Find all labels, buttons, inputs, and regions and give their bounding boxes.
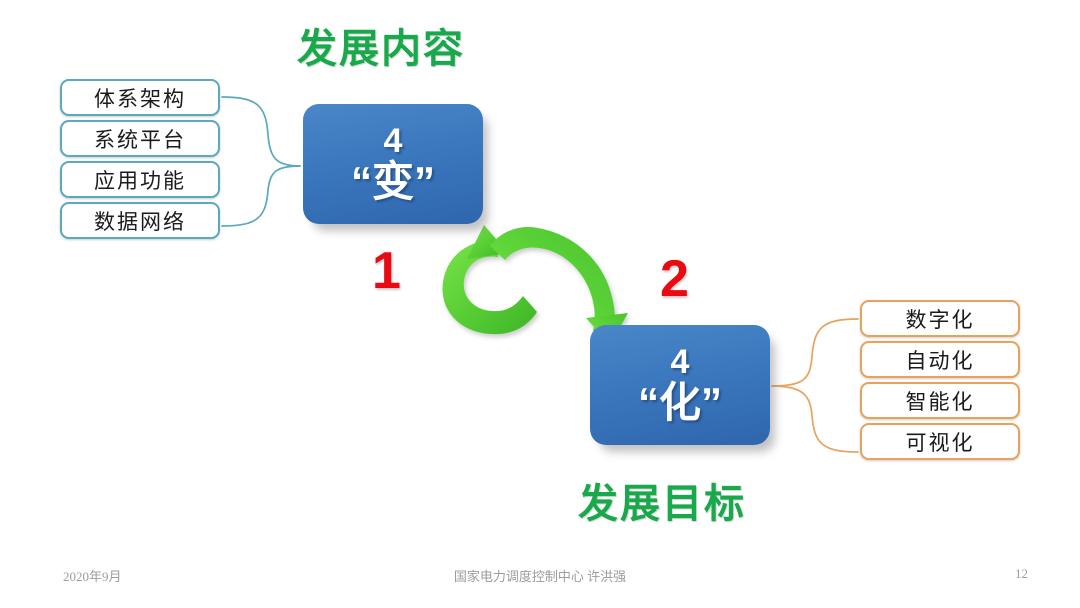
node-number: 4 xyxy=(671,345,690,381)
slide-footer: 2020年9月 国家电力调度控制中心 许洪强 12 xyxy=(0,566,1080,596)
list-item-label: 可视化 xyxy=(906,427,975,457)
list-item-label: 自动化 xyxy=(906,345,975,375)
section-title-development-goal: 发展目标 xyxy=(578,471,746,529)
slide-canvas: 发展内容 体系架构 系统平台 应用功能 数据网络 4 “变” 4 “化” 1 2… xyxy=(0,0,1080,608)
node-word: “变” xyxy=(351,160,435,204)
list-item-label: 系统平台 xyxy=(94,124,186,154)
node-four-changes[interactable]: 4 “变” xyxy=(303,104,483,224)
node-four-izations[interactable]: 4 “化” xyxy=(590,325,770,445)
list-item-label: 智能化 xyxy=(906,386,975,416)
step-number-one: 1 xyxy=(372,241,401,301)
list-item[interactable]: 智能化 xyxy=(860,382,1020,419)
list-item-label: 数字化 xyxy=(906,304,975,334)
footer-attribution: 国家电力调度控制中心 许洪强 xyxy=(0,566,1080,585)
node-word: “化” xyxy=(638,381,722,425)
right-brace-connector-icon xyxy=(772,319,858,452)
section-title-development-content: 发展内容 xyxy=(297,16,465,74)
footer-page-number: 12 xyxy=(1015,566,1028,582)
list-item[interactable]: 数据网络 xyxy=(60,202,220,239)
list-item-label: 数据网络 xyxy=(94,206,186,236)
step-number-two: 2 xyxy=(660,249,689,309)
list-item[interactable]: 可视化 xyxy=(860,423,1020,460)
list-item[interactable]: 体系架构 xyxy=(60,79,220,116)
list-item-label: 应用功能 xyxy=(94,165,186,195)
list-item[interactable]: 自动化 xyxy=(860,341,1020,378)
left-item-list: 体系架构 系统平台 应用功能 数据网络 xyxy=(60,79,220,239)
list-item[interactable]: 数字化 xyxy=(860,300,1020,337)
node-number: 4 xyxy=(384,124,403,160)
list-item[interactable]: 应用功能 xyxy=(60,161,220,198)
left-brace-connector-icon xyxy=(222,97,300,226)
right-item-list: 数字化 自动化 智能化 可视化 xyxy=(860,300,1020,460)
list-item[interactable]: 系统平台 xyxy=(60,120,220,157)
list-item-label: 体系架构 xyxy=(94,83,186,113)
